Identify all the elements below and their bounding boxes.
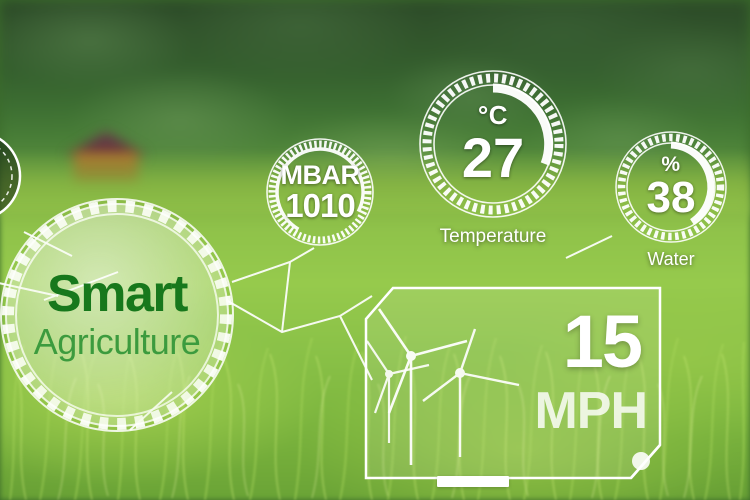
wind-panel-tab[interactable] [437, 476, 509, 487]
gauge-pressure[interactable]: MBAR 1010 [264, 136, 376, 248]
temperature-label: Temperature [440, 226, 547, 248]
status-dot-icon [632, 452, 650, 470]
hud-overlay: Smart Agriculture MBAR 1010 °C 27 Temper… [0, 0, 750, 500]
water-unit: % [661, 154, 680, 175]
hub-title-secondary: Agriculture [34, 322, 201, 362]
water-readout: % 38 [613, 129, 729, 245]
pressure-value: 1010 [285, 189, 354, 224]
temperature-readout: °C 27 [417, 68, 569, 220]
temperature-unit: °C [478, 102, 508, 128]
water-label: Water [647, 249, 694, 270]
temperature-value: 27 [462, 130, 524, 186]
wind-speed-value: 15 [563, 305, 641, 379]
hub-text: Smart Agriculture [0, 190, 242, 440]
hub-title-primary: Smart [47, 268, 187, 320]
gauge-temperature[interactable]: °C 27 Temperature [417, 68, 569, 220]
smart-agriculture-hub[interactable]: Smart Agriculture [0, 190, 242, 440]
wind-speed-panel[interactable]: 15 MPH [363, 285, 663, 481]
pressure-unit: MBAR [281, 161, 360, 189]
pressure-readout: MBAR 1010 [264, 136, 376, 248]
water-value: 38 [647, 176, 696, 220]
wind-speed-unit: MPH [534, 385, 647, 437]
gauge-water[interactable]: % 38 Water [613, 129, 729, 245]
